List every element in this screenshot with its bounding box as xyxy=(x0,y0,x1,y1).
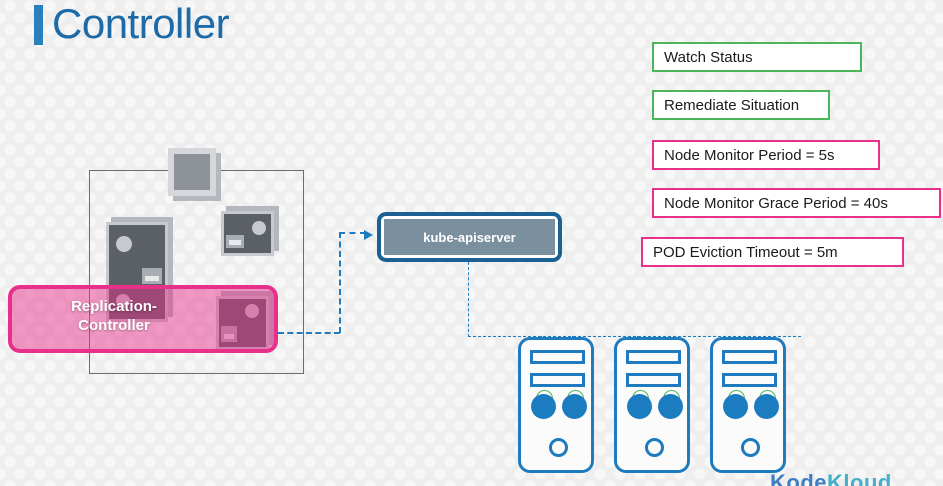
info-box-label: Watch Status xyxy=(664,49,753,66)
worker-node-1 xyxy=(518,337,594,473)
logo-part-1: Kode xyxy=(770,470,827,486)
node-bay-icon xyxy=(626,373,681,387)
node-bay-icon xyxy=(626,350,681,364)
pod-icon xyxy=(627,394,652,419)
connector-arrowhead-icon xyxy=(364,230,373,240)
pod-icon xyxy=(723,394,748,419)
node-bay-icon xyxy=(722,373,777,387)
worker-node-2 xyxy=(614,337,690,473)
node-power-icon xyxy=(549,438,568,457)
connector-api-down xyxy=(468,262,469,337)
info-box-label: Node Monitor Period = 5s xyxy=(664,147,835,164)
info-box-pod-eviction-timeout: POD Eviction Timeout = 5m xyxy=(641,237,904,267)
page-title: Controller xyxy=(34,2,229,45)
title-accent-bar xyxy=(34,5,43,45)
logo-part-2: Kloud xyxy=(827,470,892,486)
node-power-icon xyxy=(645,438,664,457)
info-box-label: Node Monitor Grace Period = 40s xyxy=(664,195,888,212)
kodekloud-logo: KodeKloud xyxy=(770,470,892,486)
slide-canvas: Controller Watch Status Remediate Situat… xyxy=(0,0,943,486)
info-box-node-monitor-grace-period: Node Monitor Grace Period = 40s xyxy=(652,188,941,218)
info-box-label: POD Eviction Timeout = 5m xyxy=(653,244,838,261)
worker-node-3 xyxy=(710,337,786,473)
info-box-remediate-situation: Remediate Situation xyxy=(652,90,830,120)
node-bay-icon xyxy=(530,350,585,364)
connector-rc-horizontal-1 xyxy=(278,332,340,334)
kube-apiserver-box: kube-apiserver xyxy=(377,212,562,262)
node-power-icon xyxy=(741,438,760,457)
control-plane-component-icon xyxy=(221,211,274,256)
pod-icon xyxy=(531,394,556,419)
node-bay-icon xyxy=(722,350,777,364)
pod-icon xyxy=(562,394,587,419)
connector-rc-horizontal-2 xyxy=(339,232,366,234)
etcd-icon xyxy=(168,148,216,196)
pod-icon xyxy=(754,394,779,419)
replication-controller-label: Replication- Controller xyxy=(14,298,214,336)
node-bay-icon xyxy=(530,373,585,387)
info-box-watch-status: Watch Status xyxy=(652,42,862,72)
pod-icon xyxy=(658,394,683,419)
info-box-label: Remediate Situation xyxy=(664,97,799,114)
rc-label-line-1: Replication- xyxy=(14,298,214,317)
connector-rc-vertical xyxy=(339,232,341,333)
title-label: Controller xyxy=(52,3,229,45)
info-box-node-monitor-period: Node Monitor Period = 5s xyxy=(652,140,880,170)
rc-label-line-2: Controller xyxy=(14,317,214,336)
kube-apiserver-label: kube-apiserver xyxy=(384,219,555,255)
